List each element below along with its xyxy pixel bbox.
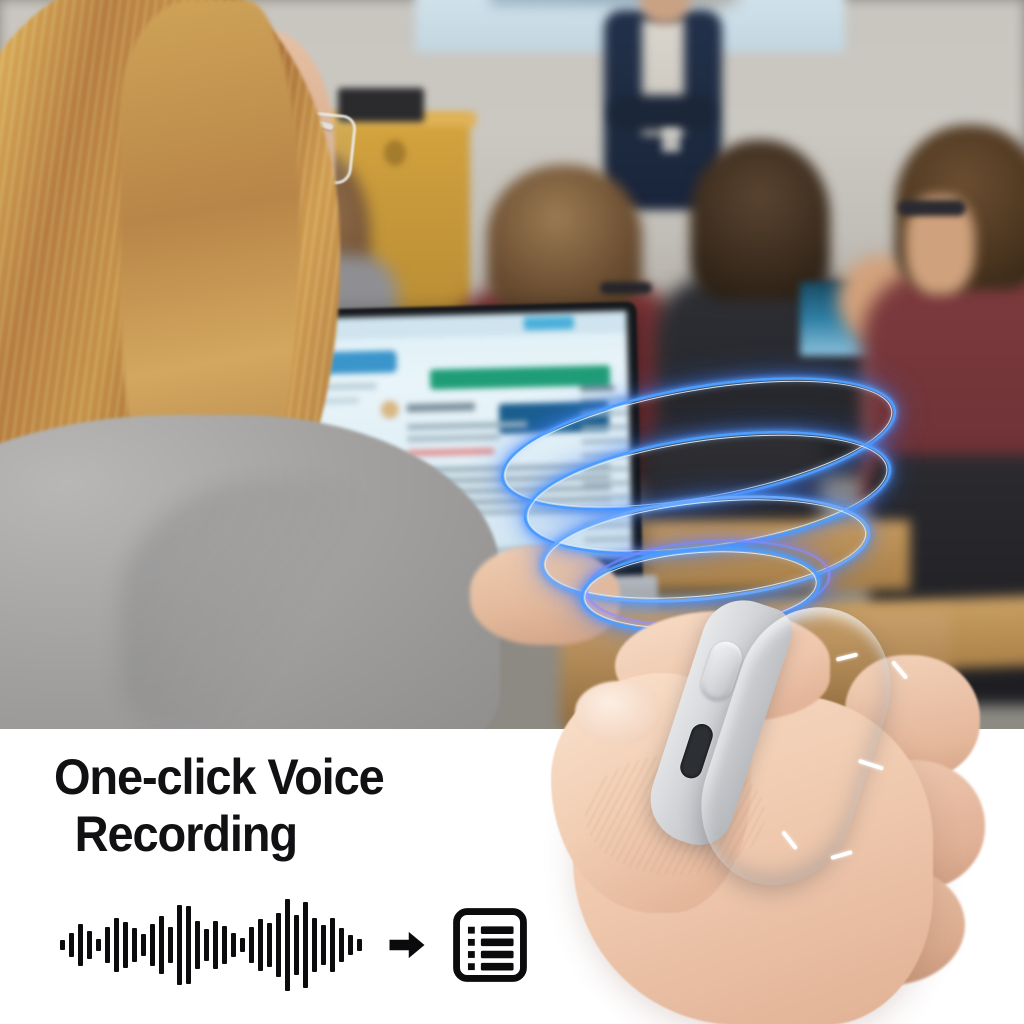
waveform-bar [78,924,83,966]
page-title: One-click Voice Recording [54,749,496,862]
transcript-list-icon [452,907,528,983]
feature-icon-row [60,899,528,991]
waveform-bar [240,938,245,953]
headline-line-1: One-click Voice [54,749,384,805]
waveform-bar [159,916,164,973]
waveform-bar [168,927,173,964]
waveform-bar [204,929,209,960]
waveform-bar [87,931,92,959]
presenter-badge [662,128,680,152]
waveform-bar [132,928,137,961]
waveform-bar [69,933,74,957]
waveform-bar [177,905,182,986]
waveform-bar [213,921,218,969]
waveform-bar [285,899,290,991]
tick-mark-top-left [836,652,858,661]
waveform-bar [258,919,263,971]
thumbnail [575,681,661,743]
waveform-bar [276,913,281,977]
waveform-bar [303,902,308,988]
waveform-bar [348,935,353,955]
waveform-bar [321,925,326,965]
waveform-bar [186,906,191,983]
waveform-bar [150,924,155,966]
right-arrow-icon [386,924,428,966]
waveform-bar [114,918,119,971]
presenter-crossed-arms [610,95,714,131]
product-marketing-image: One-click Voice Recording [0,0,1024,1024]
waveform-bar [231,933,236,957]
waveform-bar [330,918,335,971]
waveform-bar [141,934,146,956]
tick-mark-top-right [891,660,908,679]
podium-seal [384,140,406,166]
student-curly-glasses-icon [600,282,652,294]
waveform-bar [123,922,128,968]
waveform-bar [357,939,362,950]
waveform-bar [294,915,299,976]
screen-ui-tab [524,316,574,330]
waveform-bar [60,940,65,949]
screen-ui-username [407,403,475,413]
waveform-bar [267,923,272,967]
waveform-bar [195,921,200,969]
waveform-bar [312,918,317,971]
student-right-glasses-icon [898,200,966,216]
screen-ui-avatar [381,400,399,418]
tick-mark-bottom-left [781,830,798,850]
waveform-bar [249,927,254,964]
waveform-bar [222,926,227,965]
audio-waveform-icon [60,899,362,991]
hand-holding-recorder [545,585,1024,1024]
waveform-bar [105,927,110,964]
student-dark-head [690,140,830,300]
waveform-bar [96,939,101,952]
headline-line-2: Recording [54,806,496,863]
waveform-bar [339,928,344,961]
